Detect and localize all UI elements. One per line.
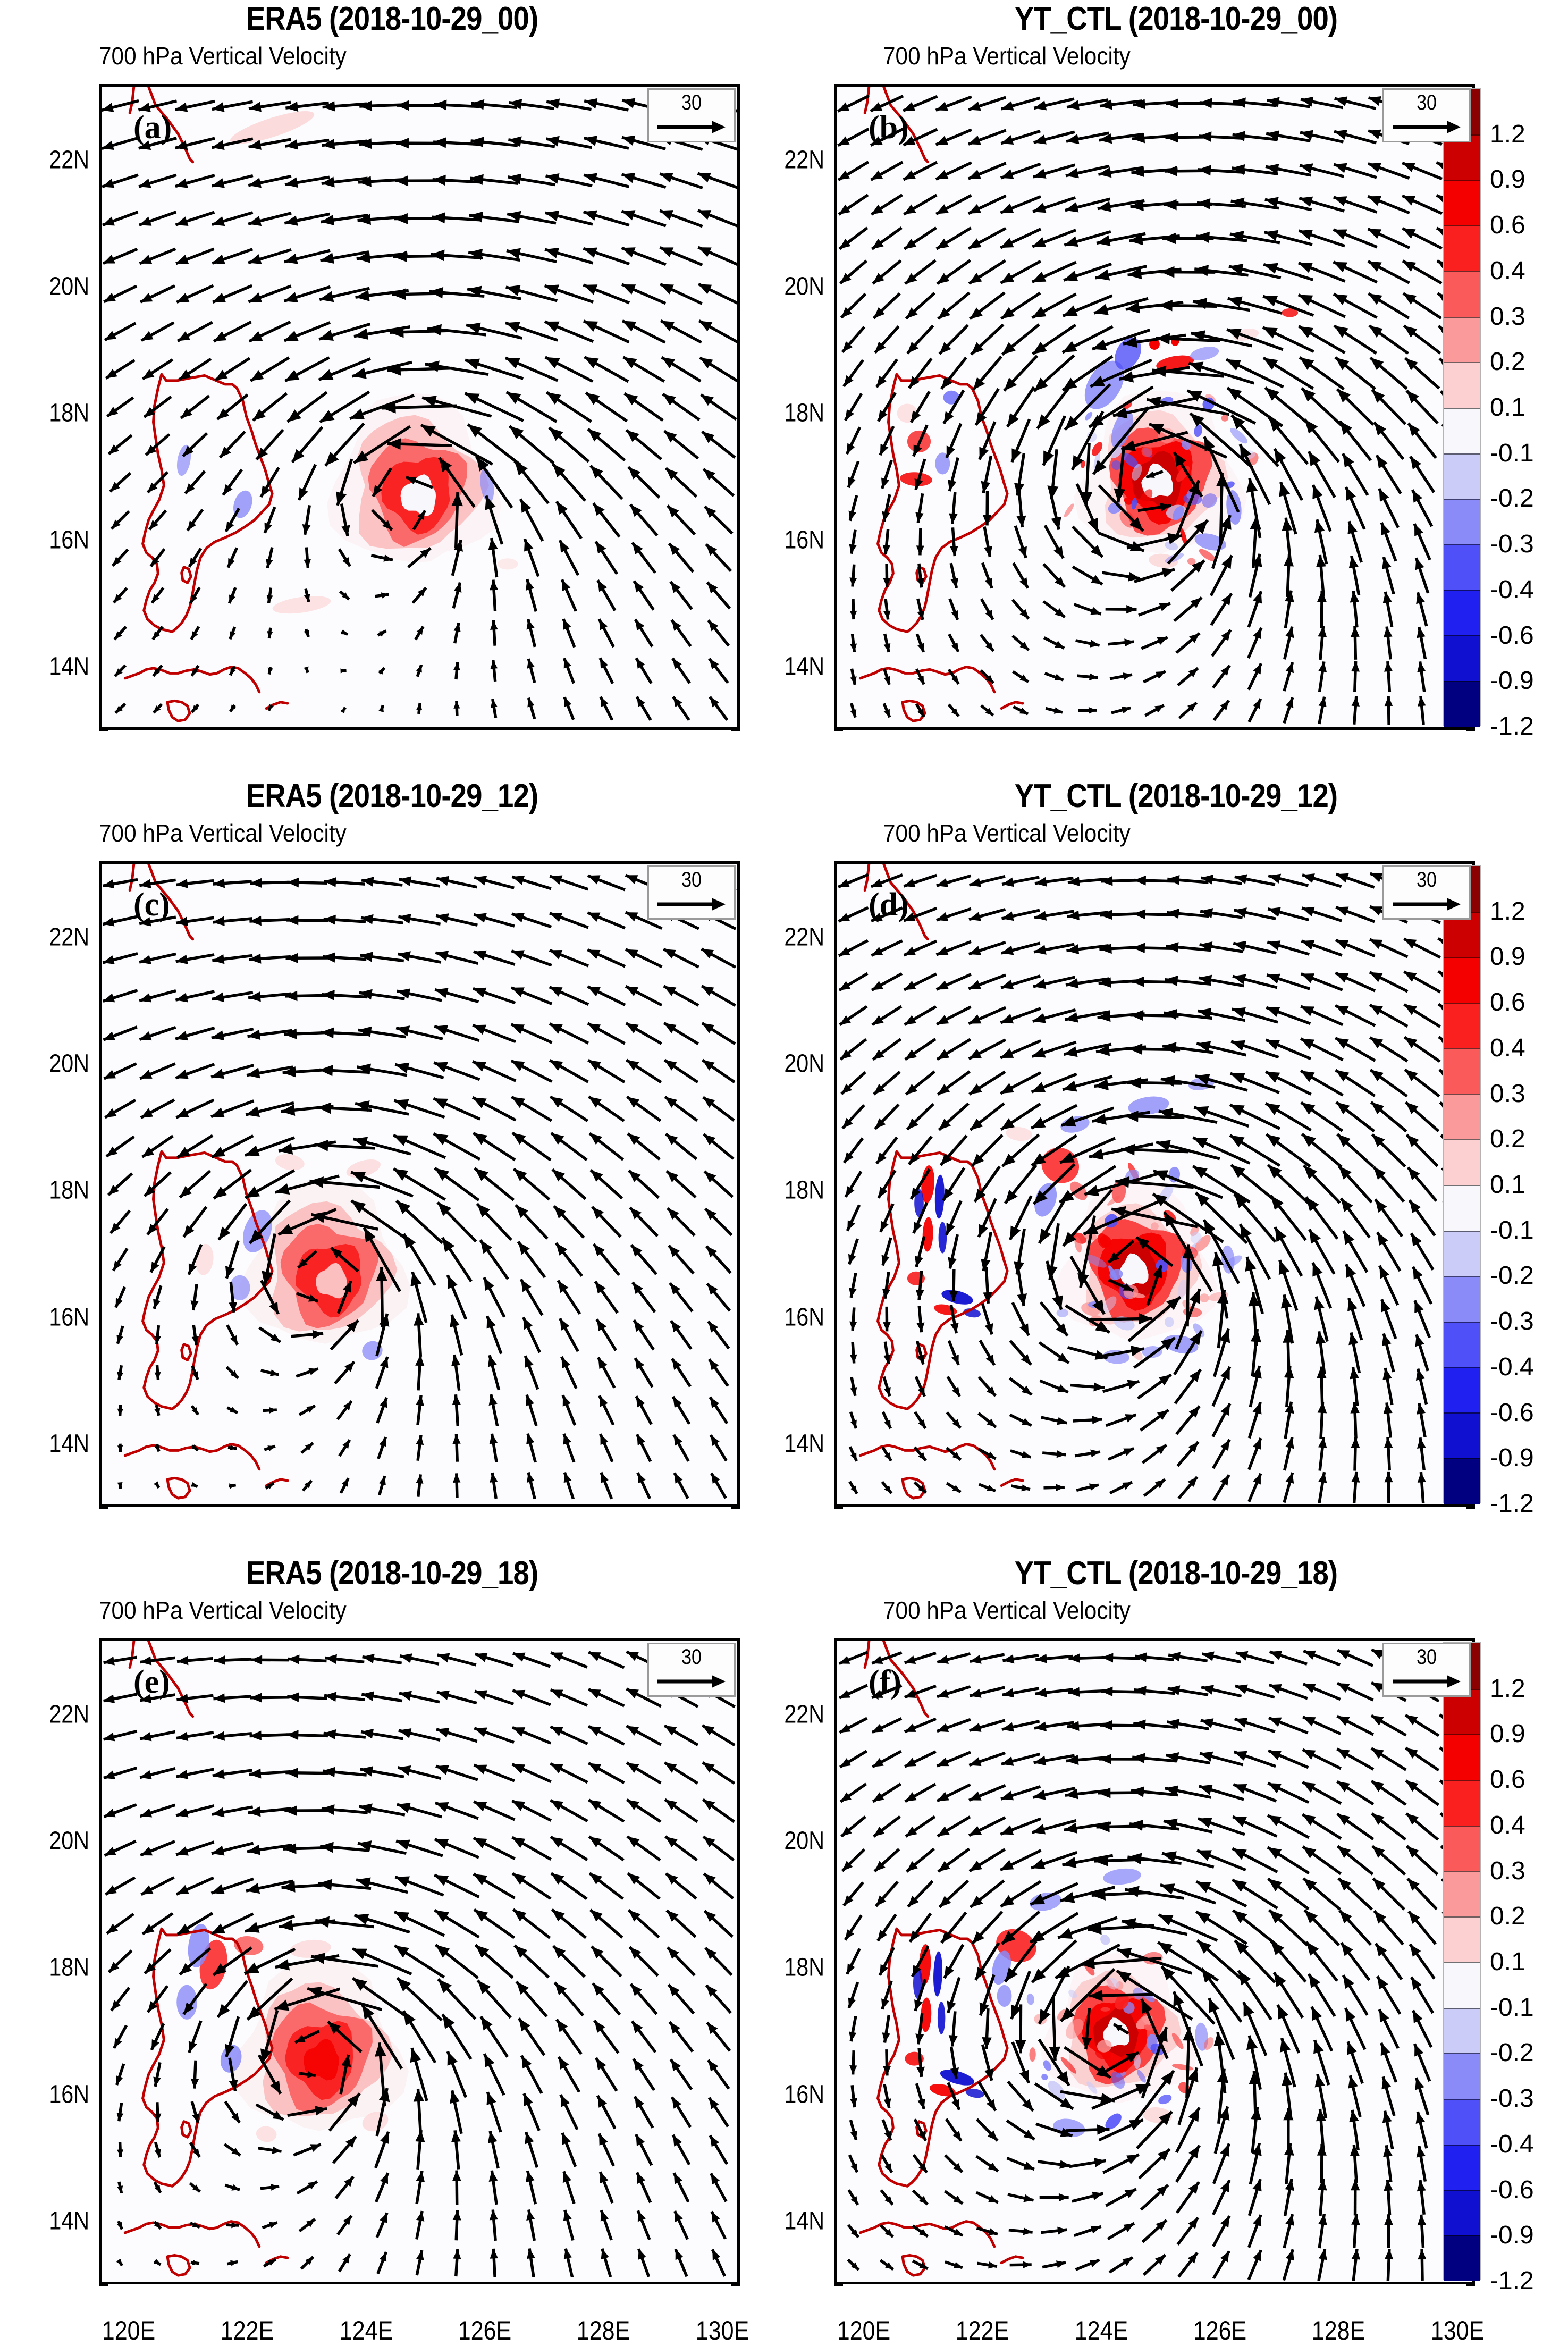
wind-vector-head <box>212 1884 225 1894</box>
wind-vector-head <box>1193 1166 1208 1179</box>
wind-vector-head <box>1162 568 1175 577</box>
wind-vector-head <box>250 878 262 888</box>
wind-vector-head <box>1032 237 1046 247</box>
wind-vector-head <box>1266 1040 1280 1050</box>
shading-speckle <box>1026 1993 1035 2005</box>
wind-vector-head <box>1233 1784 1247 1794</box>
colorbar-band <box>1444 1276 1480 1322</box>
wind-vector-head <box>435 1839 449 1849</box>
wind-vector-head <box>1266 1007 1280 1017</box>
colorbar-tick-label: -0.6 <box>1490 2177 1534 2203</box>
wind-vector-head <box>937 1723 949 1732</box>
wind-vector-head <box>269 2222 277 2229</box>
wind-vector-head <box>314 1140 328 1151</box>
wind-vector-head <box>1091 2226 1101 2234</box>
wind-vector-head <box>1031 1859 1046 1869</box>
colorbar-tick-label: -0.4 <box>1490 577 1534 603</box>
wind-vector-head <box>434 1062 448 1072</box>
wind-vector-head <box>1418 2215 1427 2225</box>
wind-vector-head <box>1351 626 1360 637</box>
panel-subtitle-f: 700 hPa Vertical Velocity <box>883 1596 1131 1625</box>
wind-vector-head <box>380 2252 386 2261</box>
wind-vector-head <box>969 1757 981 1766</box>
wind-vector-head <box>1302 907 1314 916</box>
panel-title-b: YT_CTL (2018-10-29_00) <box>831 0 1521 38</box>
wind-vector-head <box>601 2249 609 2259</box>
wind-vector-head <box>1194 1106 1209 1117</box>
wind-vector-head <box>481 2016 493 2030</box>
colorbar-band <box>1444 1916 1480 1962</box>
wind-vector-head <box>1127 1380 1139 1389</box>
wind-vector-head <box>512 1690 525 1699</box>
y-axis-label: 14N <box>49 2206 89 2235</box>
wind-vector-head <box>102 179 114 188</box>
colorbar-band <box>1444 1871 1480 1917</box>
wind-vector-head <box>1001 980 1014 989</box>
panel-subtitle-a: 700 hPa Vertical Velocity <box>99 41 347 70</box>
shading-speckle <box>1157 2092 1173 2106</box>
wind-vector-head <box>954 2262 963 2268</box>
wind-vector-head <box>1017 1293 1027 1306</box>
wind-vector-head <box>1410 457 1421 469</box>
wind-vector-head <box>1336 1070 1350 1082</box>
wind-vector-head <box>1384 1437 1393 1448</box>
wind-vector-head <box>212 255 225 264</box>
wind-vector-head <box>394 1099 409 1111</box>
wind-vector-head <box>839 1656 850 1664</box>
shading-speckle <box>1228 425 1250 446</box>
colorbar-tick-label: -0.9 <box>1490 1445 1534 1471</box>
wind-vector-head <box>1001 135 1014 145</box>
wind-vector-head <box>380 1398 387 1408</box>
wind-vector-head <box>431 250 444 262</box>
wind-vector-head <box>951 1355 959 1365</box>
wind-vector-head <box>589 1097 602 1108</box>
colorbar-tick-label: -0.2 <box>1490 2040 1534 2066</box>
x-axis-label: 130E <box>695 2315 748 2346</box>
wind-vector-head <box>512 1873 526 1885</box>
wind-vector-head <box>247 1067 260 1078</box>
shading-patch <box>940 1287 975 1307</box>
wind-vector-head <box>1301 1103 1316 1115</box>
wind-vector-head <box>1418 2249 1426 2260</box>
panel-label-d: (d) <box>869 886 909 924</box>
wind-vector-head <box>1382 1368 1392 1380</box>
wind-vector-head <box>1279 1260 1290 1275</box>
wind-vector-head <box>211 1069 224 1079</box>
reference-vector-arrow-icon <box>656 1675 727 1688</box>
wind-vector-head <box>881 1255 889 1265</box>
wind-vector-head <box>850 1420 857 1428</box>
wind-vector-head <box>102 141 114 150</box>
wind-vector-head <box>1267 940 1280 951</box>
x-axis-label: 124E <box>339 2315 392 2346</box>
wind-vector-head <box>229 594 235 603</box>
y-axis-label: 20N <box>49 272 89 301</box>
wind-vector-head <box>1099 1754 1111 1764</box>
wind-vector-head <box>562 2133 570 2145</box>
panel-label-f: (f) <box>869 1663 901 1701</box>
wind-vector-head <box>881 1998 889 2009</box>
wind-vector-head <box>1161 266 1175 278</box>
wind-vector-head <box>1125 1414 1136 1422</box>
wind-vector-head <box>104 1770 115 1779</box>
wind-vector-head <box>1244 2002 1254 2017</box>
wind-vector-head <box>453 701 460 709</box>
x-axis-label: 126E <box>458 2315 511 2346</box>
wind-vector-head <box>1334 130 1347 140</box>
wind-vector-head <box>1166 132 1178 142</box>
wind-vector-head <box>1193 298 1207 309</box>
wind-vector-head <box>950 546 958 556</box>
wind-vector-head <box>395 1877 410 1887</box>
wind-vector-head <box>947 445 955 458</box>
y-axis-label: 18N <box>784 1176 824 1205</box>
wind-vector-head <box>139 179 151 188</box>
wind-vector-head <box>527 698 534 708</box>
y-axis-label: 14N <box>49 652 89 681</box>
wind-vector-head <box>474 951 487 960</box>
reference-vector-box-f: 30 <box>1382 1643 1471 1697</box>
colorbar-tick-label: 0.4 <box>1490 1036 1525 1061</box>
colorbar-tick-label: -0.9 <box>1490 2223 1534 2248</box>
y-axis-label: 20N <box>784 1049 824 1079</box>
figure-root: ERA5 (2018-10-29_00)700 hPa Vertical Vel… <box>0 0 1568 2333</box>
wind-vector-head <box>176 255 189 264</box>
colorbar-tick-label: 0.2 <box>1490 1126 1525 1152</box>
wind-vector-head <box>968 170 981 179</box>
wind-vector-head <box>905 1723 916 1732</box>
wind-vector-head <box>1253 1474 1261 1485</box>
wind-vector-head <box>1279 482 1290 497</box>
wind-vector-head <box>1054 674 1063 680</box>
panel-title-d: YT_CTL (2018-10-29_12) <box>831 777 1521 815</box>
wind-vector-head <box>1196 1912 1211 1924</box>
y-axis-label: 14N <box>784 2206 824 2235</box>
field-d <box>837 864 1472 1504</box>
colorbar-band <box>1444 544 1480 590</box>
wind-vector-head <box>175 1070 188 1079</box>
wind-vector-head <box>1132 977 1144 987</box>
wind-vector-head <box>213 1693 225 1703</box>
wind-vector-head <box>304 630 309 637</box>
wind-vector-head <box>1097 235 1110 246</box>
colorbar-band <box>1444 1367 1480 1413</box>
wind-vector-head <box>452 1434 460 1444</box>
wind-vector-head <box>435 988 448 998</box>
wind-vector-head <box>1246 478 1258 492</box>
wind-vector-head <box>1067 100 1080 110</box>
shading-patch <box>289 1938 332 1960</box>
shading-speckle <box>1098 1933 1112 1947</box>
colorbar-band <box>1444 1048 1480 1094</box>
wind-vector-head <box>251 1655 263 1664</box>
wind-vector-head <box>359 100 372 111</box>
wind-vector-head <box>563 1395 571 1406</box>
wind-vector-head <box>1385 696 1393 707</box>
colorbar-band <box>1444 1094 1480 1140</box>
wind-vector-head <box>1197 198 1210 209</box>
wind-vector-head <box>395 1063 409 1073</box>
wind-vector-head <box>140 1809 152 1818</box>
wind-vector-head <box>1056 1484 1064 1491</box>
reference-vector-arrow-icon <box>1392 121 1462 133</box>
wind-vector-head <box>985 578 992 588</box>
wind-vector-head <box>937 912 949 921</box>
wind-vector-head <box>396 138 409 148</box>
colorbar-tick-label: 1.2 <box>1490 122 1525 147</box>
wind-vector-head <box>1033 342 1047 354</box>
colorbar-band <box>1444 1185 1480 1231</box>
wind-vector-head <box>698 173 711 182</box>
wind-vector-head <box>1333 229 1347 239</box>
panel-row-2: ERA5 (2018-10-29_18)700 hPa Vertical Vel… <box>0 1554 1568 2332</box>
wind-vector-head <box>212 992 225 1002</box>
wind-vector-head <box>1371 1781 1384 1792</box>
wind-vector-head <box>524 539 533 552</box>
wind-vector-head <box>969 912 981 921</box>
wind-vector-head <box>140 255 152 264</box>
colorbar-tick-label: 0.9 <box>1490 167 1525 192</box>
wind-vector-head <box>1092 1416 1102 1424</box>
wind-vector-head <box>117 2149 123 2157</box>
wind-vector-head <box>1347 521 1357 534</box>
wind-vector-head <box>884 709 890 718</box>
wind-vector-head <box>323 952 335 962</box>
wind-vector-head <box>1068 1653 1080 1663</box>
wind-vector-head <box>213 878 225 888</box>
wind-vector-head <box>1312 1263 1322 1277</box>
wind-vector-head <box>848 477 855 487</box>
wind-vector-head <box>1098 1788 1110 1798</box>
wind-vector-head <box>1199 131 1211 142</box>
wind-vector-head <box>319 1065 333 1076</box>
colorbar-tick-label: -0.6 <box>1490 623 1534 649</box>
wind-vector-head <box>1415 558 1424 570</box>
shading-speckle <box>1063 502 1075 518</box>
wind-vector-head <box>1299 197 1313 207</box>
wind-vector-head <box>490 620 498 630</box>
wind-vector-head <box>1198 165 1211 175</box>
wind-vector-head <box>474 913 486 923</box>
wind-vector-head <box>176 1846 189 1855</box>
wind-vector-head <box>1270 1651 1283 1660</box>
wind-vector-head <box>979 447 988 459</box>
wind-vector-head <box>117 1445 123 1452</box>
shading-speckle <box>1221 415 1228 422</box>
wind-vector-head <box>512 1133 526 1145</box>
wind-vector-head <box>1199 1785 1213 1795</box>
plot-area-d: (d)30 <box>834 861 1475 1507</box>
reference-vector-box-b: 30 <box>1382 88 1471 142</box>
colorbar-band <box>1444 590 1480 636</box>
colorbar-row1: 1.20.90.60.40.30.20.1-0.1-0.2-0.3-0.4-0.… <box>1443 865 1481 1503</box>
x-axis-label: 120E <box>102 2315 155 2346</box>
field-f <box>837 1641 1472 2282</box>
wind-vector-head <box>525 1356 533 1368</box>
wind-vector-head <box>1232 1007 1246 1018</box>
colorbar-band <box>1444 2190 1480 2235</box>
wind-vector-head <box>664 1060 677 1071</box>
wind-vector-head <box>1312 485 1323 499</box>
wind-vector-head <box>380 2132 389 2144</box>
colorbar-tick-label: -0.1 <box>1490 1218 1534 1243</box>
panel-title-c: ERA5 (2018-10-29_12) <box>47 777 737 815</box>
wind-vector-head <box>550 950 562 960</box>
wind-vector-head <box>660 247 674 257</box>
wind-vector-head <box>324 877 336 887</box>
wind-vector-head <box>1121 1144 1135 1156</box>
wind-vector-head <box>512 1727 525 1736</box>
plot-area-c: (c)30 <box>99 861 740 1507</box>
colorbar-band <box>1444 2099 1480 2145</box>
wind-vector-head <box>550 913 562 922</box>
shading-speckle <box>1057 1309 1069 1317</box>
wind-vector-head <box>1263 263 1278 274</box>
x-axis-label: 128E <box>577 2315 630 2346</box>
panel-row-0: ERA5 (2018-10-29_00)700 hPa Vertical Vel… <box>0 0 1568 777</box>
wind-vector-head <box>545 322 560 332</box>
panel-row-1: ERA5 (2018-10-29_12)700 hPa Vertical Vel… <box>0 777 1568 1554</box>
wind-vector-head <box>1126 605 1136 613</box>
wind-vector-head <box>284 215 298 226</box>
colorbar-tick-label: 1.2 <box>1490 899 1525 924</box>
wind-vector-head <box>1334 163 1347 173</box>
colorbar-band <box>1444 1962 1480 2008</box>
colorbar-row2: 1.20.90.60.40.30.20.1-0.1-0.2-0.3-0.4-0.… <box>1443 1642 1481 2280</box>
wind-vector-head <box>589 1837 602 1847</box>
colorbar-tick-label: 0.3 <box>1490 1081 1525 1107</box>
panel-subtitle-e: 700 hPa Vertical Velocity <box>99 1596 347 1625</box>
wind-vector-head <box>511 950 525 960</box>
wind-vector-head <box>850 2131 857 2140</box>
wind-vector-head <box>285 178 298 188</box>
wind-vector-head <box>1384 661 1393 672</box>
wind-vector-head <box>286 915 299 926</box>
colorbar-band <box>1444 1322 1480 1367</box>
colorbar-band <box>1444 453 1480 499</box>
wind-vector-head <box>1286 1473 1294 1484</box>
wind-vector-head <box>1417 1403 1426 1414</box>
wind-vector-head <box>285 1768 298 1778</box>
wind-vector-head <box>1197 1850 1212 1861</box>
wind-vector-head <box>1064 236 1078 247</box>
wind-vector-head <box>1232 1880 1247 1892</box>
wind-vector-head <box>622 247 636 257</box>
wind-vector-head <box>416 665 422 672</box>
reference-vector-arrow-icon <box>1392 898 1462 911</box>
wind-vector-head <box>453 1473 461 1483</box>
colorbar-band <box>1444 362 1480 408</box>
colorbar-band <box>1444 317 1480 363</box>
wind-vector-head <box>116 1335 123 1344</box>
wind-vector-head <box>904 239 916 249</box>
wind-vector-head <box>1033 203 1046 213</box>
wind-vector-head <box>1089 2260 1099 2267</box>
wind-vector-head <box>1235 1718 1247 1727</box>
wind-vector-head <box>265 523 272 533</box>
panel-subtitle-c: 700 hPa Vertical Velocity <box>99 819 347 847</box>
colorbar-tick-label: -0.3 <box>1490 2086 1534 2112</box>
shading-patch <box>934 1174 946 1218</box>
wind-vector-head <box>1023 2261 1032 2268</box>
wind-vector-head <box>936 102 948 111</box>
reference-vector-box-c: 30 <box>647 865 736 920</box>
reference-vector-arrow-icon <box>1392 1675 1462 1688</box>
wind-vector-head <box>448 2051 458 2066</box>
wind-vector-head <box>397 1803 411 1813</box>
panel-subtitle-d: 700 hPa Vertical Velocity <box>883 819 1131 847</box>
shading-patch <box>498 558 518 569</box>
wind-vector-head <box>1159 300 1173 312</box>
y-axis-label: 22N <box>784 1700 824 1729</box>
x-axis-label: 120E <box>837 2315 890 2346</box>
wind-vector-head <box>987 1485 996 1491</box>
panel-c: ERA5 (2018-10-29_12)700 hPa Vertical Vel… <box>0 777 784 1554</box>
wind-vector-head <box>1370 873 1383 882</box>
shading-patch <box>1005 1125 1033 1142</box>
colorbar-band <box>1444 499 1480 544</box>
wind-vector-head <box>192 2113 199 2123</box>
wind-vector-head <box>946 1223 955 1235</box>
shading-patch <box>922 1217 934 1252</box>
reference-vector-value: 30 <box>655 91 728 114</box>
wind-vector-head <box>917 643 924 652</box>
wind-vector-head <box>701 394 714 406</box>
wind-vector-head <box>1286 2249 1294 2260</box>
reference-vector-value: 30 <box>655 868 728 892</box>
colorbar-tick-label: -0.4 <box>1490 2132 1534 2157</box>
colorbar-band <box>1444 1458 1480 1504</box>
y-axis-label: 20N <box>49 1827 89 1856</box>
wind-vector-head <box>1253 591 1262 603</box>
wind-vector-head <box>246 1883 260 1894</box>
wind-vector-head <box>600 2172 609 2184</box>
wind-vector-head <box>601 1473 609 1483</box>
colorbar-tick-label: 0.4 <box>1490 258 1525 284</box>
y-axis-label: 14N <box>49 1429 89 1458</box>
wind-vector-head <box>189 2041 197 2053</box>
reference-vector-arrow-icon <box>656 121 727 133</box>
wind-vector-head <box>512 913 525 922</box>
wind-vector-head <box>1334 326 1348 338</box>
wind-vector-head <box>1415 1334 1424 1347</box>
wind-vector-head <box>1166 98 1178 108</box>
wind-vector-head <box>985 1323 993 1334</box>
shading-patch <box>1102 1867 1142 1887</box>
wind-vector-head <box>849 577 857 586</box>
wind-vector-head <box>245 1922 260 1933</box>
wind-vector-head <box>340 708 345 713</box>
wind-vector-head <box>1414 2044 1423 2057</box>
wind-vector-head <box>968 102 981 111</box>
wind-vector-head <box>436 1728 449 1737</box>
wind-vector-head <box>465 359 480 370</box>
wind-vector-head <box>354 329 368 340</box>
wind-vector-head <box>884 676 890 685</box>
wind-vector-head <box>1158 1942 1173 1954</box>
wind-vector-head <box>1245 1257 1257 1272</box>
colorbar-tick-label: -0.1 <box>1490 1995 1534 2021</box>
panel-label-e: (e) <box>133 1663 170 1701</box>
wind-vector-head <box>324 915 336 925</box>
wind-vector-head <box>622 173 636 183</box>
wind-vector-head <box>448 1275 458 1289</box>
panel-label-a: (a) <box>133 109 172 147</box>
wind-vector-head <box>850 1355 857 1364</box>
colorbar-band <box>1444 1003 1480 1048</box>
wind-vector-head <box>849 1322 857 1331</box>
